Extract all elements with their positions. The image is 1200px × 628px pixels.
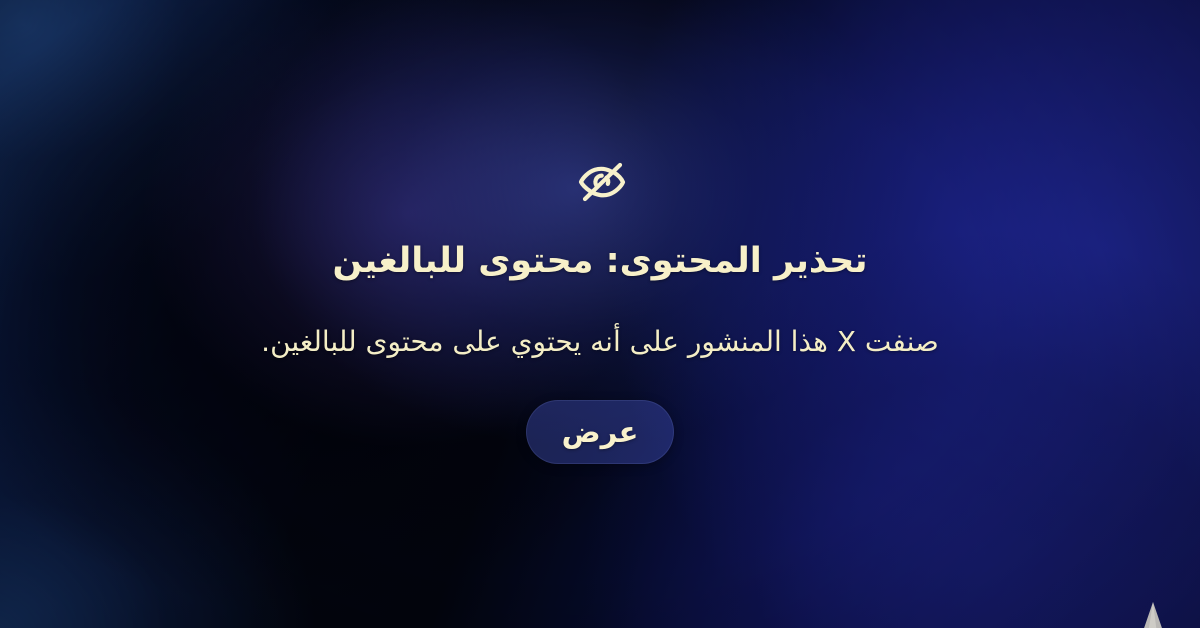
content-warning-overlay: تحذير المحتوى: محتوى للبالغين صنفت X هذا… <box>0 0 1200 628</box>
action-row: عرض <box>0 400 1200 464</box>
warning-description: صنفت X هذا المنشور على أنه يحتوي على محت… <box>0 323 1200 361</box>
page-title: تحذير المحتوى: محتوى للبالغين <box>0 240 1200 284</box>
overlay-content: تحذير المحتوى: محتوى للبالغين صنفت X هذا… <box>0 0 1200 628</box>
view-button[interactable]: عرض <box>526 400 674 464</box>
eye-off-icon <box>573 156 631 208</box>
